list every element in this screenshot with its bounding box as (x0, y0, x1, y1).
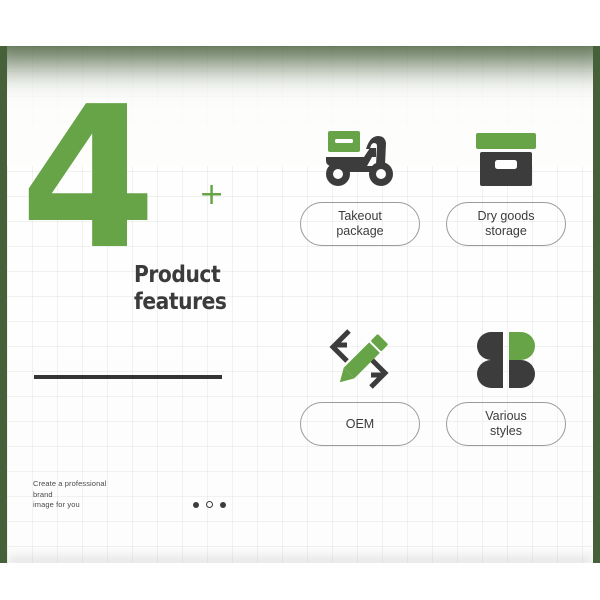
feature-label-various-styles[interactable]: Various styles (446, 402, 566, 446)
feature-item-takeout-package[interactable]: Takeout package (295, 118, 425, 246)
plus-icon: + (199, 180, 224, 210)
pagination-dot-1[interactable] (193, 502, 199, 508)
hero-subtitle-line-2: brand (33, 490, 106, 501)
feature-item-various-styles[interactable]: Various styles (441, 318, 571, 446)
page-title-line-1: Product (134, 264, 275, 287)
slide-canvas: 4 + Product features Create a profession… (0, 0, 600, 600)
pencil-design-icon (295, 318, 425, 402)
feature-label-oem[interactable]: OEM (300, 402, 420, 446)
left-green-rail (0, 46, 7, 563)
slide-card: 4 + Product features Create a profession… (7, 46, 593, 563)
pagination-dots[interactable] (193, 501, 226, 508)
pagination-dot-3[interactable] (220, 502, 226, 508)
feature-item-oem[interactable]: OEM (295, 318, 425, 446)
four-petal-clover-icon (441, 318, 571, 402)
page-title: Product features (134, 264, 275, 314)
hero-number: 4 (20, 104, 150, 254)
title-divider (34, 375, 222, 379)
feature-label-takeout-package[interactable]: Takeout package (300, 202, 420, 246)
right-green-rail (593, 46, 600, 563)
hero-subtitle: Create a professional brand image for yo… (33, 479, 106, 511)
feature-label-dry-goods-storage[interactable]: Dry goods storage (446, 202, 566, 246)
delivery-scooter-icon (295, 118, 425, 202)
hero-subtitle-line-3: image for you (33, 500, 106, 511)
page-title-line-2: features (134, 291, 275, 314)
storage-box-icon (441, 118, 571, 202)
feature-item-dry-goods-storage[interactable]: Dry goods storage (441, 118, 571, 246)
hero-subtitle-line-1: Create a professional (33, 479, 106, 490)
hero-block: 4 + Product features Create a profession… (7, 46, 297, 563)
feature-grid: Takeout package Dry goods storage (289, 118, 589, 538)
pagination-dot-2[interactable] (206, 501, 213, 508)
